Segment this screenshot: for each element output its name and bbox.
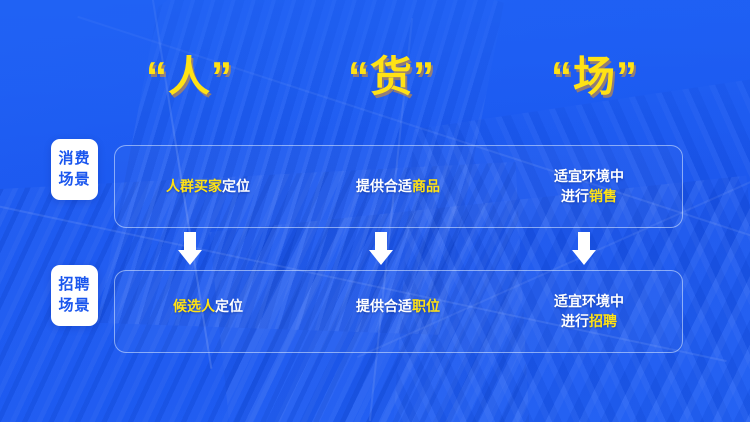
arrow-head bbox=[369, 250, 393, 265]
row-label-recruitment-line1: 招聘 bbox=[51, 274, 98, 295]
cell-consumption-chang-line2-plain: 进行 bbox=[561, 188, 589, 204]
column-header-chang: “场” bbox=[551, 46, 638, 108]
cell-consumption-chang-line2-highlight: 销售 bbox=[589, 188, 617, 204]
row-label-recruitment-scenario: 招聘 场景 bbox=[51, 265, 98, 326]
cell-consumption-ren-highlight: 人群买家 bbox=[166, 178, 222, 194]
cell-recruitment-huo-highlight: 职位 bbox=[412, 298, 440, 314]
arrow-head bbox=[572, 250, 596, 265]
row-label-recruitment-line2: 场景 bbox=[51, 295, 98, 316]
arrow-shaft bbox=[184, 232, 196, 251]
cell-recruitment-ren-highlight: 候选人 bbox=[173, 298, 215, 314]
arrow-shaft bbox=[375, 232, 387, 251]
cell-recruitment-ren: 候选人定位 bbox=[128, 296, 288, 316]
cell-recruitment-ren-plain: 定位 bbox=[215, 298, 243, 314]
column-header-huo: “货” bbox=[348, 46, 435, 108]
arrow-head bbox=[178, 250, 202, 265]
cell-recruitment-huo-plain: 提供合适 bbox=[356, 298, 412, 314]
cell-consumption-ren-plain: 定位 bbox=[222, 178, 250, 194]
down-arrow-icon-column-chang bbox=[567, 232, 601, 266]
cell-consumption-ren: 人群买家定位 bbox=[128, 176, 288, 196]
cell-consumption-huo-plain: 提供合适 bbox=[356, 178, 412, 194]
column-header-ren: “人” bbox=[146, 46, 233, 108]
cell-recruitment-chang-line2: 进行招聘 bbox=[504, 311, 674, 331]
cell-recruitment-chang-line2-highlight: 招聘 bbox=[589, 313, 617, 329]
cell-recruitment-chang-line2-plain: 进行 bbox=[561, 313, 589, 329]
cell-consumption-huo-highlight: 商品 bbox=[412, 178, 440, 194]
down-arrow-icon-column-ren bbox=[173, 232, 207, 266]
arrow-shaft bbox=[578, 232, 590, 251]
row-label-consumption-line2: 场景 bbox=[51, 169, 98, 190]
cell-recruitment-chang-line1: 适宜环境中 bbox=[504, 291, 674, 311]
cell-consumption-chang: 适宜环境中 进行销售 bbox=[504, 166, 674, 206]
cell-recruitment-huo: 提供合适职位 bbox=[318, 296, 478, 316]
infographic-slide: “人” “货” “场” 消费 场景 人群买家定位 提供合适商品 适宜环境中 进行… bbox=[0, 0, 750, 422]
column-headers: “人” “货” “场” bbox=[0, 46, 750, 108]
row-label-consumption-line1: 消费 bbox=[51, 148, 98, 169]
cell-consumption-chang-line2: 进行销售 bbox=[504, 186, 674, 206]
row-label-consumption-scenario: 消费 场景 bbox=[51, 139, 98, 200]
down-arrow-icon-column-huo bbox=[364, 232, 398, 266]
cell-consumption-huo: 提供合适商品 bbox=[318, 176, 478, 196]
cell-recruitment-chang: 适宜环境中 进行招聘 bbox=[504, 291, 674, 331]
cell-consumption-chang-line1: 适宜环境中 bbox=[504, 166, 674, 186]
